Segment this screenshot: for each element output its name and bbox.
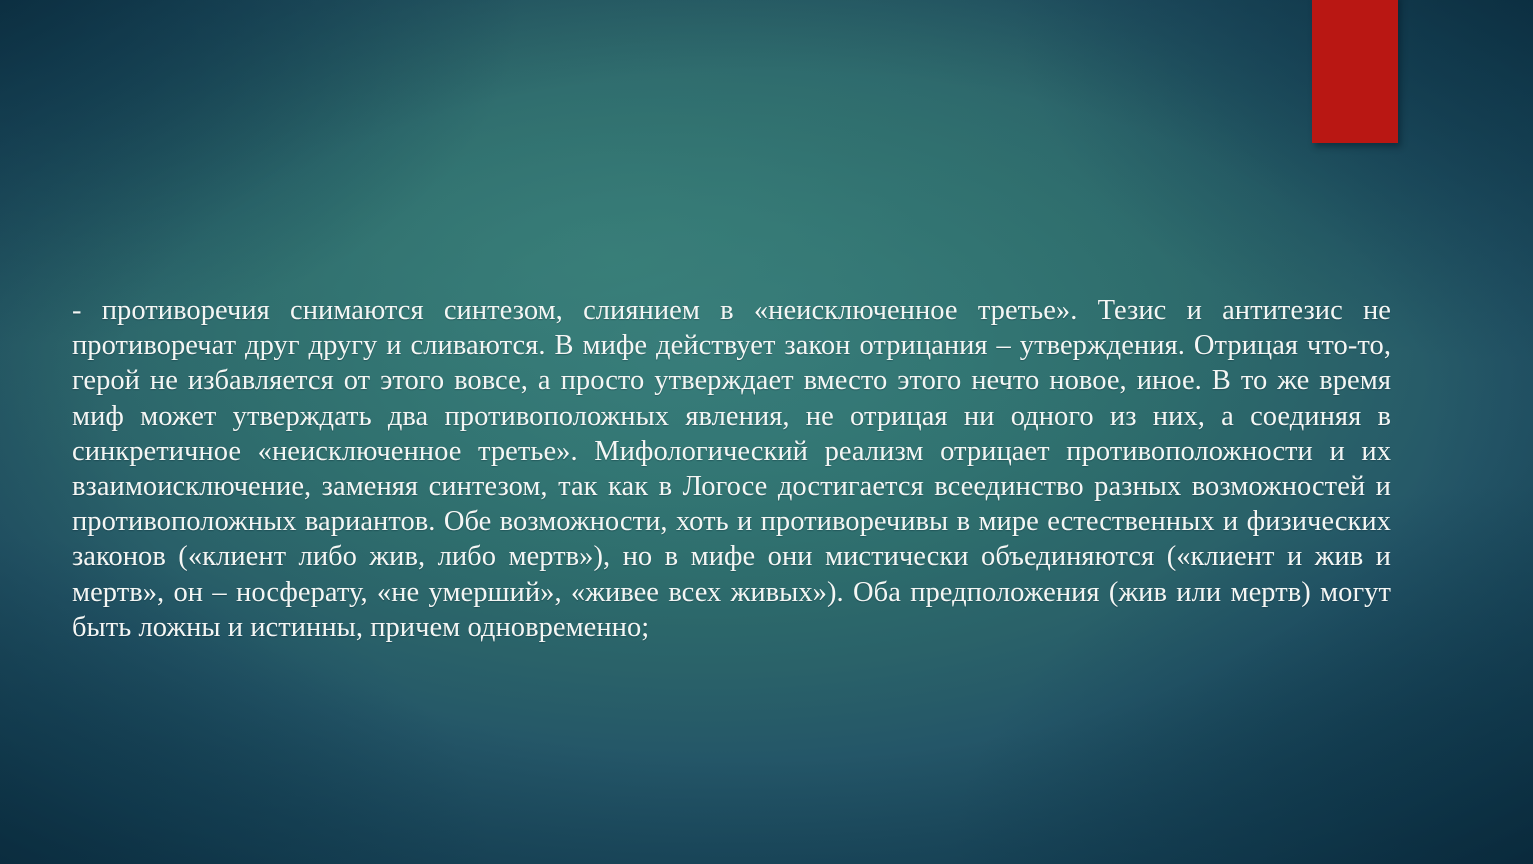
- slide-body-text: - противоречия снимаются синтезом, слиян…: [72, 293, 1391, 645]
- red-accent-block: [1312, 0, 1398, 143]
- presentation-slide: - противоречия снимаются синтезом, слиян…: [0, 0, 1533, 864]
